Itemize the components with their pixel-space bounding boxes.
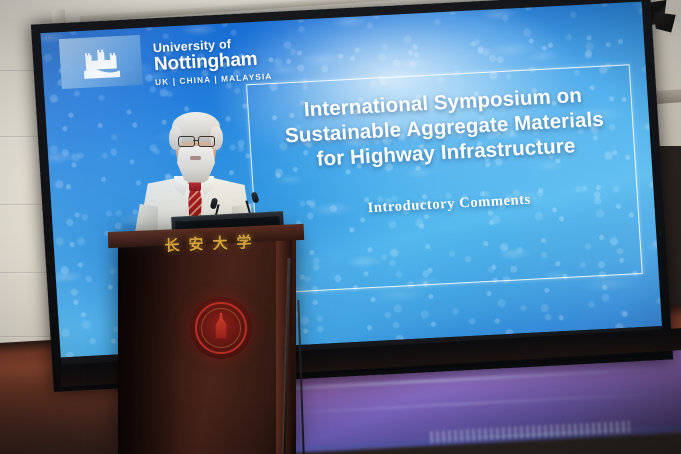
glasses-bridge [193, 140, 199, 141]
tie-knot [189, 181, 201, 191]
podium-char-1: 长 [164, 234, 180, 256]
podium-char-3: 大 [212, 232, 228, 254]
eyeglasses-icon [177, 136, 215, 146]
nottingham-castle-icon [74, 46, 128, 79]
lens-right [198, 136, 215, 147]
podium-shadow [118, 244, 182, 454]
podium-char-4: 学 [236, 231, 252, 253]
conference-photo: University of Nottingham UK | CHINA | MA… [0, 0, 681, 454]
university-seal-icon [190, 297, 252, 359]
speaker-mouth [190, 156, 201, 160]
lens-left [178, 136, 195, 147]
nottingham-logo-box [59, 34, 143, 89]
podium-char-2: 安 [188, 233, 204, 255]
